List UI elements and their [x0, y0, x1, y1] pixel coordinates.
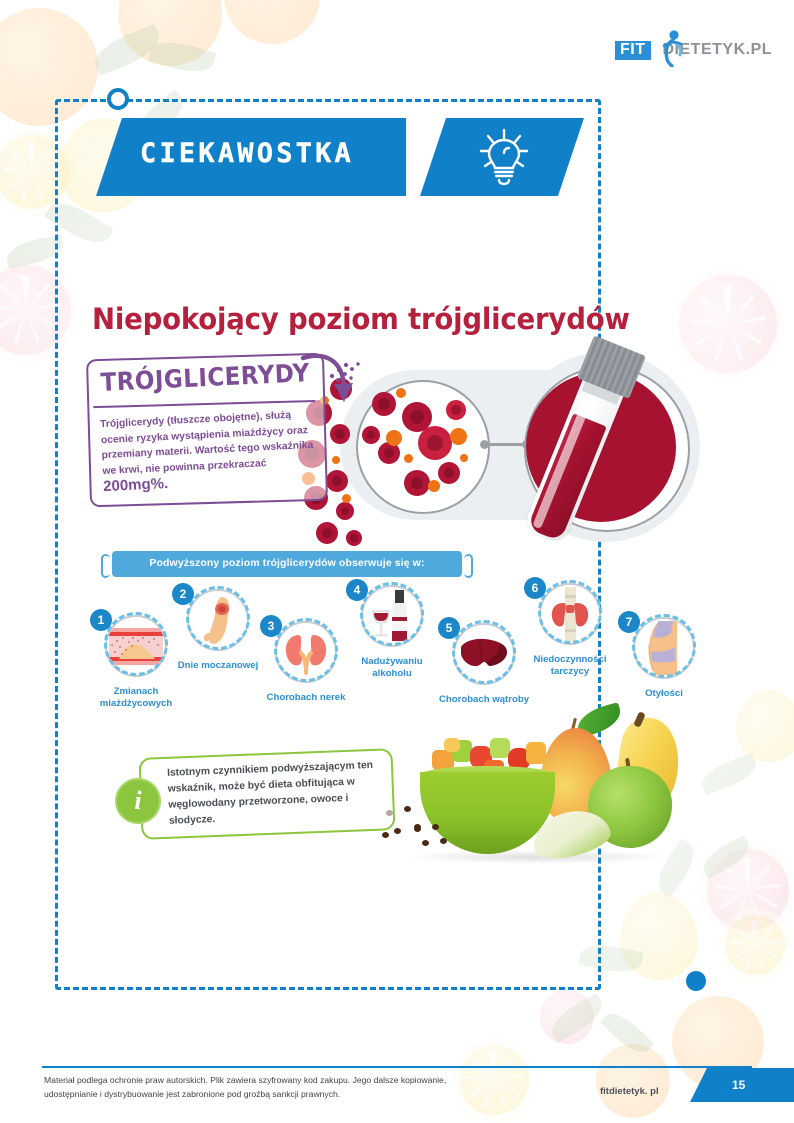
- info-note-text: Istotnym czynnikiem podwyższającym ten w…: [167, 757, 391, 829]
- banner-icon-panel: [420, 118, 584, 196]
- footer-divider: [42, 1066, 752, 1068]
- section-header-banner: CIEKAWOSTKA: [62, 118, 622, 196]
- cause-label-1: Zmianach miażdżycowych: [88, 686, 184, 710]
- cause-item-2[interactable]: 2 Dnie moczanowej: [170, 589, 266, 672]
- lightbulb-icon: [478, 128, 530, 186]
- callout-threshold-value: 200mg%.: [103, 475, 169, 495]
- cause-badge-2: 2: [172, 583, 194, 605]
- sub-banner: Podwyższony poziom trójglicerydów obserw…: [112, 551, 462, 577]
- cause-item-6[interactable]: 6 Niedoczynności tarczycy: [522, 583, 618, 678]
- cause-item-7[interactable]: 7 Otyłości: [616, 617, 712, 700]
- page: FIT DIETETYK.PL CIEKAWOSTKA: [0, 0, 794, 1123]
- callout-body: Trójglicerydy (tłuszcze obojętne), służą…: [100, 407, 318, 497]
- footer-notice-line-1: Materiał podlega ochronie praw autorskic…: [44, 1074, 584, 1088]
- fruit-and-cookies-photo: [380, 700, 690, 875]
- definition-callout-box: TRÓJGLICERYDY Trójglicerydy (tłuszcze ob…: [86, 353, 328, 508]
- brand-logo[interactable]: FIT DIETETYK.PL: [615, 38, 772, 62]
- frame-end-dot-marker: [686, 971, 706, 991]
- frame-start-circle-marker: [107, 88, 129, 110]
- cause-badge-5: 5: [438, 617, 460, 639]
- banner-title-text: CIEKAWOSTKA: [140, 138, 354, 169]
- cause-badge-1: 1: [90, 609, 112, 631]
- cause-badge-7: 7: [618, 611, 640, 633]
- info-badge-icon: i: [115, 778, 161, 824]
- logo-fit-text: FIT: [615, 41, 651, 60]
- curved-arrow-icon: [300, 352, 354, 408]
- runner-figure-icon: [660, 29, 686, 67]
- cookie-item: [404, 816, 456, 860]
- footer-copyright-notice: Materiał podlega ochronie praw autorskic…: [44, 1074, 584, 1101]
- footer-notice-line-2: udostępnianie i dystrybuowanie jest zabr…: [44, 1088, 584, 1102]
- cause-label-3: Chorobach nerek: [258, 692, 354, 704]
- info-note-box: Istotnym czynnikiem podwyższającym ten w…: [139, 748, 396, 840]
- cause-item-3[interactable]: 3 Chorobach nerek: [258, 621, 354, 704]
- footer-site-url[interactable]: fitdietetyk. pl: [600, 1086, 659, 1097]
- cause-item-5[interactable]: 5 Chorobach wątroby: [436, 623, 532, 706]
- cause-label-7: Otyłości: [616, 688, 712, 700]
- callout-body-text: Trójglicerydy (tłuszcze obojętne), służą…: [100, 410, 314, 477]
- cause-label-2: Dnie moczanowej: [170, 660, 266, 672]
- page-number-tab: 15: [690, 1068, 794, 1102]
- blood-sample-illustration: [300, 330, 690, 570]
- sub-banner-text: Podwyższony poziom trójglicerydów obserw…: [112, 557, 462, 569]
- cause-badge-6: 6: [524, 577, 546, 599]
- cause-item-4[interactable]: 4 Nadużywaniu alkoholu: [344, 585, 440, 680]
- cause-badge-3: 3: [260, 615, 282, 637]
- cause-badge-4: 4: [346, 579, 368, 601]
- page-number: 15: [732, 1078, 745, 1092]
- cause-label-6: Niedoczynności tarczycy: [522, 654, 618, 678]
- cause-label-4: Nadużywaniu alkoholu: [344, 656, 440, 680]
